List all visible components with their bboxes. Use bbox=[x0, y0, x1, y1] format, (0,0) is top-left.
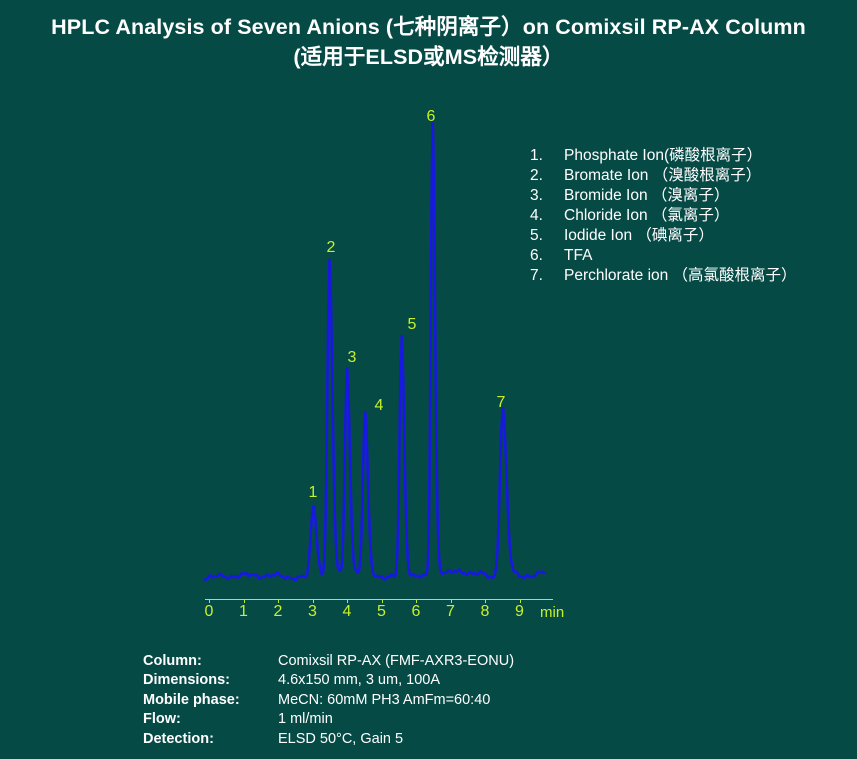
legend-item: 4.Chloride Ion （氯离子） bbox=[530, 206, 797, 226]
legend-item-number: 4. bbox=[530, 206, 564, 226]
method-row: Flow:1 ml/min bbox=[143, 710, 514, 729]
chromatogram-trace bbox=[0, 0, 660, 640]
method-row: Detection:ELSD 50°C, Gain 5 bbox=[143, 730, 514, 749]
legend-item-label: Iodide Ion （碘离子） bbox=[564, 226, 714, 246]
legend-item-label: Bromide Ion （溴离子） bbox=[564, 186, 729, 206]
method-row-label: Column: bbox=[143, 652, 278, 671]
method-row-label: Mobile phase: bbox=[143, 691, 278, 710]
x-axis-tick-label: 9 bbox=[515, 603, 524, 621]
legend-item-label: Perchlorate ion （高氯酸根离子） bbox=[564, 266, 797, 286]
legend-item-number: 6. bbox=[530, 246, 564, 266]
legend-item-label: Chloride Ion （氯离子） bbox=[564, 206, 729, 226]
method-parameters: Column: Comixsil RP-AX (FMF-AXR3-EONU)Di… bbox=[143, 652, 514, 749]
legend-item: 7.Perchlorate ion （高氯酸根离子） bbox=[530, 266, 797, 286]
legend-item: 3.Bromide Ion （溴离子） bbox=[530, 186, 797, 206]
trace-line bbox=[205, 122, 544, 580]
legend-item: 5.Iodide Ion （碘离子） bbox=[530, 226, 797, 246]
x-axis-tick-label: 7 bbox=[446, 603, 455, 621]
method-row-value: MeCN: 60mM PH3 AmFm=60:40 bbox=[278, 691, 490, 710]
method-row-label: Detection: bbox=[143, 730, 278, 749]
legend-item-label: Phosphate Ion(磷酸根离子） bbox=[564, 146, 762, 166]
peak-number-label: 4 bbox=[375, 398, 384, 414]
peak-number-label: 1 bbox=[309, 485, 318, 501]
x-axis-tick-label: 0 bbox=[205, 603, 214, 621]
legend-item-number: 5. bbox=[530, 226, 564, 246]
peak-number-label: 5 bbox=[408, 317, 417, 333]
method-row-value: Comixsil RP-AX (FMF-AXR3-EONU) bbox=[278, 652, 514, 671]
x-axis-tick-label: 5 bbox=[377, 603, 386, 621]
legend-item-number: 7. bbox=[530, 266, 564, 286]
peak-legend: 1.Phosphate Ion(磷酸根离子）2.Bromate Ion （溴酸根… bbox=[530, 146, 797, 286]
method-row-value: 4.6x150 mm, 3 um, 100A bbox=[278, 671, 440, 690]
peak-number-label: 6 bbox=[427, 109, 436, 125]
legend-item: 1.Phosphate Ion(磷酸根离子） bbox=[530, 146, 797, 166]
x-axis-tick-label: 8 bbox=[481, 603, 490, 621]
legend-item-label: Bromate Ion （溴酸根离子） bbox=[564, 166, 761, 186]
legend-item: 2.Bromate Ion （溴酸根离子） bbox=[530, 166, 797, 186]
x-axis-line bbox=[205, 599, 553, 600]
method-row-value: ELSD 50°C, Gain 5 bbox=[278, 730, 403, 749]
method-row-label: Flow: bbox=[143, 710, 278, 729]
x-axis-tick-label: 1 bbox=[239, 603, 248, 621]
chromatogram-chart: 1234567 bbox=[0, 0, 660, 640]
x-axis-tick-label: 2 bbox=[274, 603, 283, 621]
peak-number-label: 2 bbox=[327, 240, 336, 256]
legend-item-number: 2. bbox=[530, 166, 564, 186]
method-row: Column: Comixsil RP-AX (FMF-AXR3-EONU) bbox=[143, 652, 514, 671]
x-axis-tick-label: 4 bbox=[343, 603, 352, 621]
peak-number-label: 7 bbox=[497, 395, 506, 411]
peak-number-label: 3 bbox=[348, 350, 357, 366]
x-axis-tick-label: 6 bbox=[412, 603, 421, 621]
legend-item-number: 1. bbox=[530, 146, 564, 166]
method-row-label: Dimensions: bbox=[143, 671, 278, 690]
method-row: Dimensions:4.6x150 mm, 3 um, 100A bbox=[143, 671, 514, 690]
legend-item-number: 3. bbox=[530, 186, 564, 206]
method-row-value: 1 ml/min bbox=[278, 710, 333, 729]
legend-item: 6.TFA bbox=[530, 246, 797, 266]
x-axis-tick-label: 3 bbox=[308, 603, 317, 621]
method-row: Mobile phase:MeCN: 60mM PH3 AmFm=60:40 bbox=[143, 691, 514, 710]
legend-item-label: TFA bbox=[564, 246, 592, 266]
x-axis-unit-label: min bbox=[540, 604, 564, 622]
slide-canvas: HPLC Analysis of Seven Anions (七种阴离子）on … bbox=[0, 0, 857, 759]
